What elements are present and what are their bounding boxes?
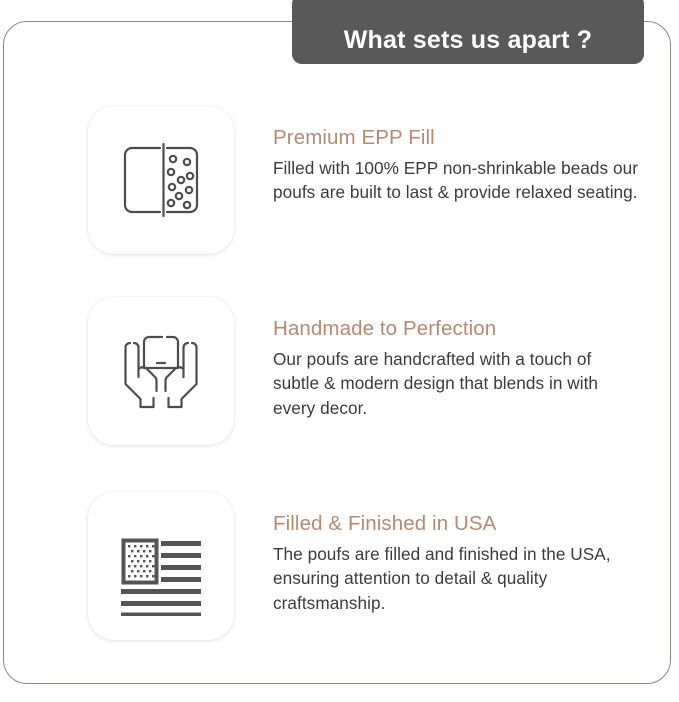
feature-item: Handmade to Perfection Our poufs are han… [88,297,648,447]
feature-description: Filled with 100% EPP non-shrinkable bead… [273,156,638,206]
feature-text: Handmade to Perfection Our poufs are han… [234,297,648,421]
feature-item: Premium EPP Fill Filled with 100% EPP no… [88,106,648,256]
feature-highlights-infographic: What sets us apart ? [0,0,679,702]
feature-item: Filled & Finished in USA The poufs are f… [88,492,648,642]
feature-title: Premium EPP Fill [273,127,648,150]
icon-card [88,297,234,445]
feature-list: Premium EPP Fill Filled with 100% EPP no… [0,0,679,702]
pouf-epp-beads-icon [111,130,211,230]
feature-text: Premium EPP Fill Filled with 100% EPP no… [234,106,648,205]
usa-flag-icon [109,516,213,616]
feature-title: Filled & Finished in USA [273,513,648,536]
icon-card [88,492,234,640]
feature-description: The poufs are filled and finished in the… [273,542,638,617]
feature-text: Filled & Finished in USA The poufs are f… [234,492,648,616]
icon-card [88,106,234,254]
feature-title: Handmade to Perfection [273,318,648,341]
feature-description: Our poufs are handcrafted with a touch o… [273,347,638,422]
handmade-hands-icon [111,321,211,421]
